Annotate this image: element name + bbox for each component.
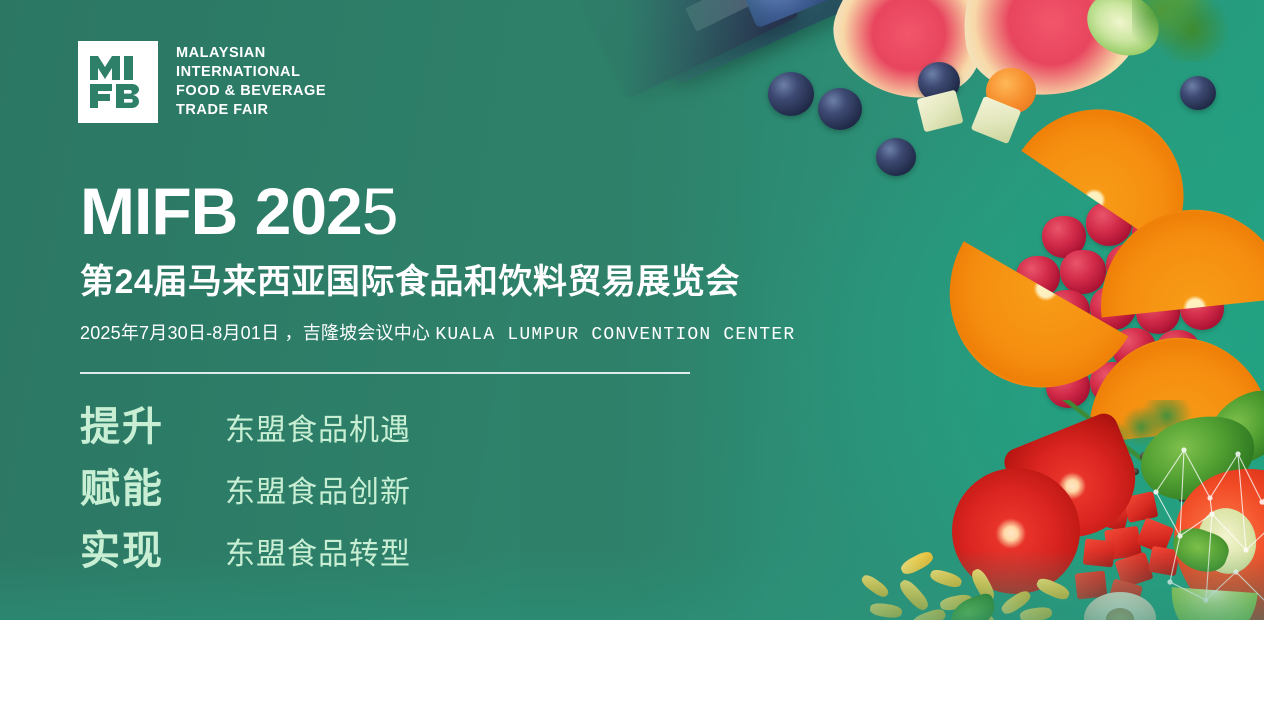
mifb-2025-promotional-banner: MALAYSIAN INTERNATIONAL FOOD & BEVERAGE … <box>0 0 1264 707</box>
blueberry-icon <box>876 138 916 176</box>
slogan-value: 东盟食品机遇 <box>225 405 411 449</box>
slogan-row: 提升 东盟食品机遇 <box>80 394 411 456</box>
logo-word-line-1: MALAYSIAN <box>176 44 326 63</box>
orange-slice-icon <box>1202 0 1264 157</box>
slogan-value: 东盟食品创新 <box>225 467 411 511</box>
event-title-bold: MIFB 202 <box>80 174 362 248</box>
blueberry-icon <box>1180 76 1216 110</box>
collage-gradient-fade <box>520 0 770 620</box>
event-venue: KUALA LUMPUR CONVENTION CENTER <box>435 325 795 345</box>
event-date-venue: 2025年7月30日-8月01日 ，吉隆坡会议中心 KUALA LUMPUR C… <box>80 322 795 347</box>
slogan-key: 赋能 <box>80 456 225 514</box>
green-background-stage: MALAYSIAN INTERNATIONAL FOOD & BEVERAGE … <box>0 0 1264 620</box>
event-date: 2025年7月30日-8月01日 ，吉隆坡会议中心 <box>80 323 430 343</box>
slogan-list: 提升 东盟食品机遇 赋能 东盟食品创新 实现 东盟食品转型 <box>80 394 411 580</box>
network-constellation-overlay <box>1150 440 1264 620</box>
event-title: MIFB 2025 <box>80 178 397 244</box>
slogan-value: 东盟食品转型 <box>225 529 411 573</box>
blueberry-icon <box>818 88 862 130</box>
logo-word-line-3: FOOD & BEVERAGE <box>176 82 326 101</box>
event-title-year-light: 5 <box>362 174 398 248</box>
logo-word-line-4: TRADE FAIR <box>176 101 326 120</box>
mifb-monogram-icon <box>90 56 146 108</box>
mifb-logo-lockup: MALAYSIAN INTERNATIONAL FOOD & BEVERAGE … <box>78 41 326 123</box>
slogan-row: 实现 东盟食品转型 <box>80 518 411 580</box>
slogan-row: 赋能 东盟食品创新 <box>80 456 411 518</box>
section-divider <box>80 372 690 374</box>
slogan-key: 实现 <box>80 518 225 576</box>
logo-word-line-2: INTERNATIONAL <box>176 63 326 82</box>
mifb-logo-wordmark: MALAYSIAN INTERNATIONAL FOOD & BEVERAGE … <box>176 44 326 121</box>
event-subtitle-chinese: 第24届马来西亚国际食品和饮料贸易展览会 <box>80 263 740 302</box>
footer-bar: 主办单位: constellar www.mifb.com.my #MIFB20… <box>0 620 1264 707</box>
mifb-logo-mark-icon <box>78 41 158 123</box>
blueberry-icon <box>768 72 814 116</box>
slogan-key: 提升 <box>80 394 225 452</box>
